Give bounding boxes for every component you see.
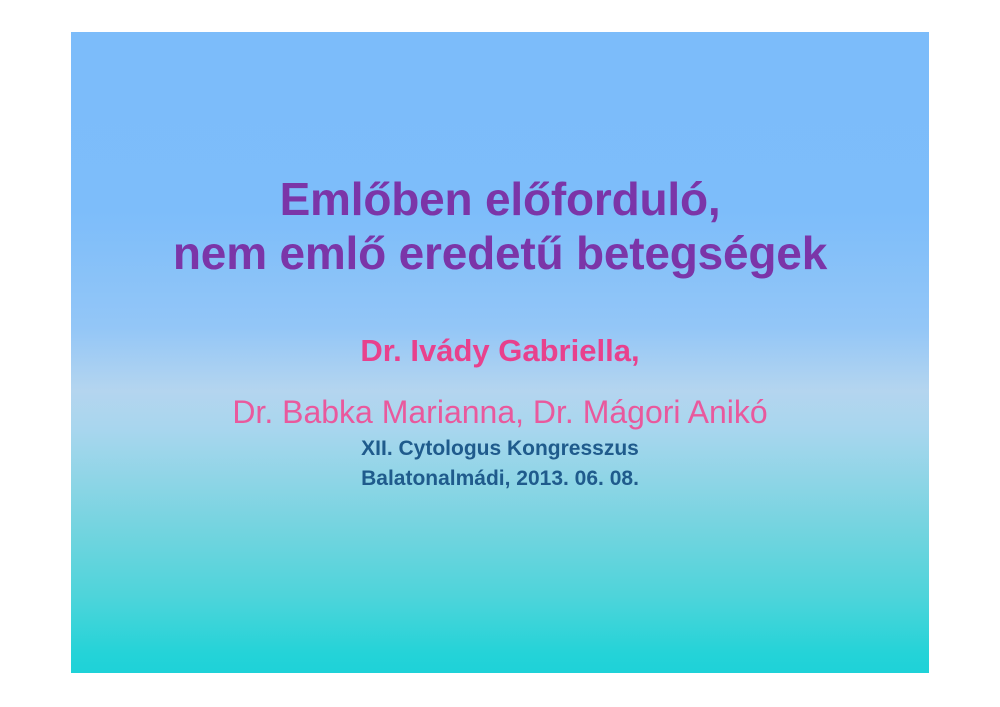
title-line-2: nem emlő eredetű betegségek [71, 226, 929, 280]
author-list: Dr. Ivády Gabriella, Dr. Babka Marianna,… [71, 330, 929, 435]
presentation-slide: Emlőben előforduló, nem emlő eredetű bet… [71, 32, 929, 673]
author-secondary: Dr. Babka Marianna, Dr. Mágori Anikó [71, 390, 929, 435]
title-line-1: Emlőben előforduló, [71, 172, 929, 226]
event-name: XII. Cytologus Kongresszus [71, 434, 929, 464]
slide-content: Emlőben előforduló, nem emlő eredetű bet… [71, 32, 929, 673]
event-place-date: Balatonalmádi, 2013. 06. 08. [71, 464, 929, 494]
slide-title: Emlőben előforduló, nem emlő eredetű bet… [71, 172, 929, 281]
event-info: XII. Cytologus Kongresszus Balatonalmádi… [71, 434, 929, 494]
slide-canvas: Emlőben előforduló, nem emlő eredetű bet… [0, 0, 1000, 707]
author-primary: Dr. Ivády Gabriella, [71, 330, 929, 372]
